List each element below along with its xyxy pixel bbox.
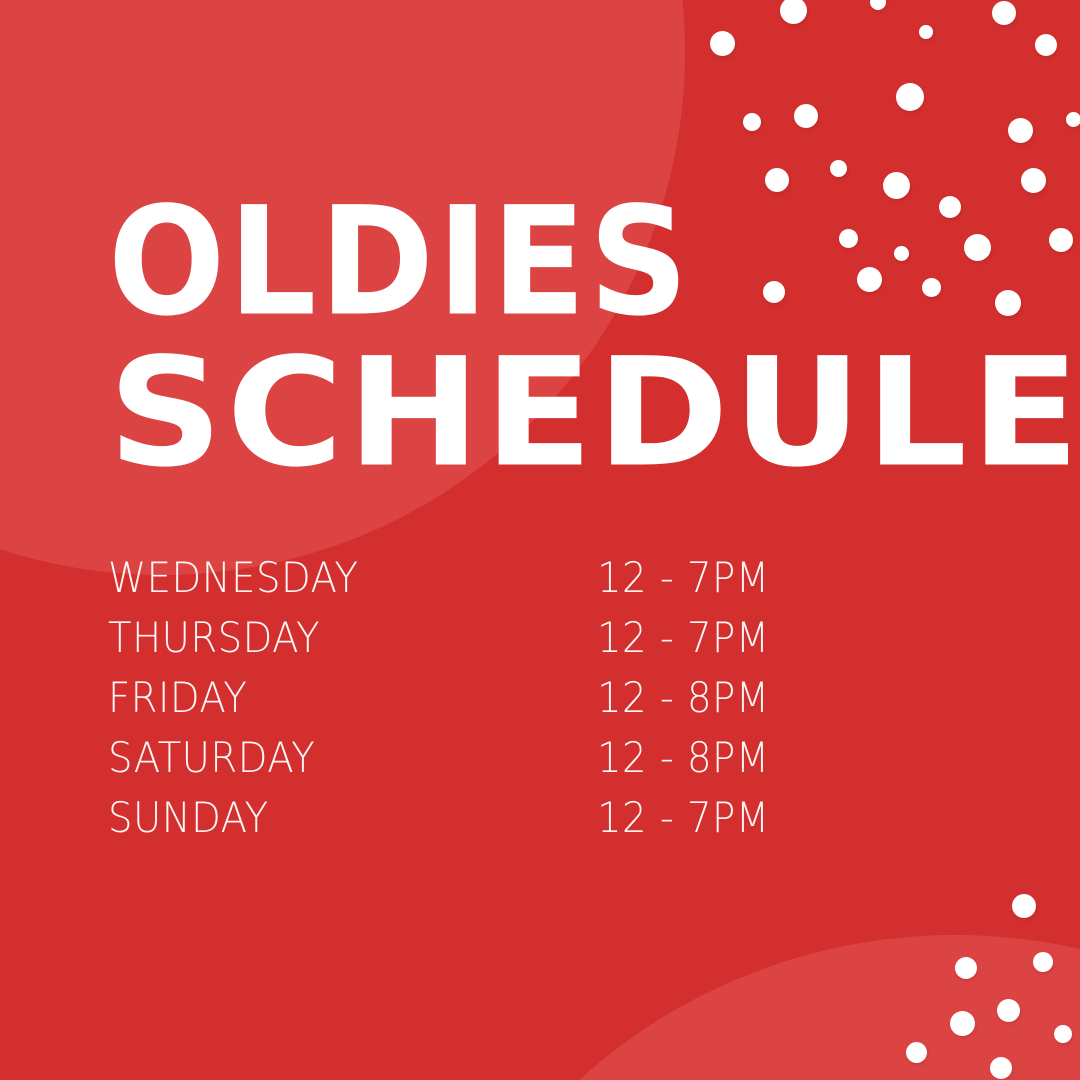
headline-line-schedule: SCHEDULE	[108, 339, 1080, 488]
schedule-day-label: WEDNESDAY	[108, 557, 358, 599]
schedule-list: WEDNESDAY12 - 7PMTHURSDAY12 - 7PMFRIDAY1…	[108, 548, 908, 848]
schedule-day-label: SATURDAY	[108, 737, 315, 779]
schedule-time-label: 12 - 8PM	[597, 677, 770, 719]
schedule-time-label: 12 - 8PM	[597, 737, 770, 779]
light-circle-bottom-right	[395, 935, 1080, 1080]
poster-canvas: OLDIES SCHEDULE WEDNESDAY12 - 7PMTHURSDA…	[0, 0, 1080, 1080]
schedule-time-label: 12 - 7PM	[597, 617, 770, 659]
schedule-row: FRIDAY12 - 8PM	[108, 668, 908, 728]
headline-line-oldies: OLDIES	[108, 188, 994, 337]
schedule-day-label: SUNDAY	[108, 797, 269, 839]
schedule-day-label: THURSDAY	[108, 617, 320, 659]
schedule-row: SATURDAY12 - 8PM	[108, 728, 908, 788]
schedule-day-label: FRIDAY	[108, 677, 247, 719]
schedule-time-label: 12 - 7PM	[597, 797, 770, 839]
schedule-time-label: 12 - 7PM	[597, 557, 770, 599]
schedule-row: SUNDAY12 - 7PM	[108, 788, 908, 848]
schedule-row: THURSDAY12 - 7PM	[108, 608, 908, 668]
background-shapes	[0, 0, 1080, 1080]
schedule-row: WEDNESDAY12 - 7PM	[108, 548, 908, 608]
poster-headline: OLDIES SCHEDULE	[108, 196, 968, 479]
